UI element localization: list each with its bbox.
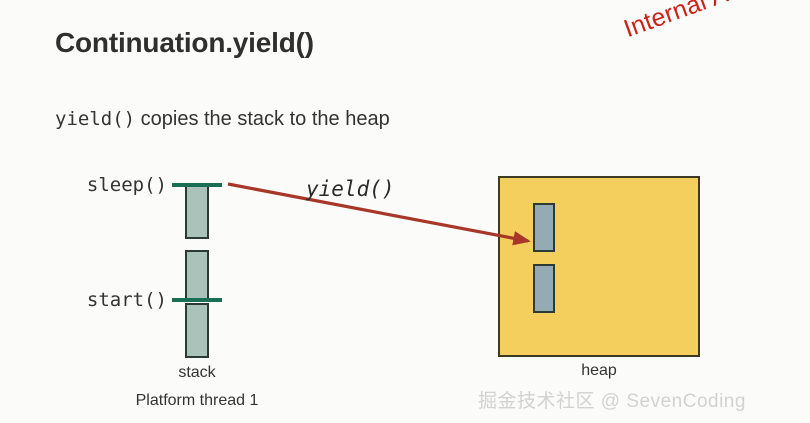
watermark: 掘金技术社区 @ SevenCoding (478, 386, 746, 413)
stack-separator-sleep (172, 183, 222, 187)
subtitle-text: copies the stack to the heap (135, 108, 390, 130)
page-title: Continuation.yield() (55, 27, 314, 59)
heap-object (533, 264, 555, 313)
internal-api-stamp: Internal API (620, 0, 755, 44)
stack-caption: stack (137, 364, 257, 382)
slide-canvas: Continuation.yield() Internal API yield(… (0, 0, 810, 423)
subtitle-code: yield() (55, 108, 135, 130)
stack-separator-start (172, 298, 222, 302)
heap-object (533, 203, 555, 252)
stack-frame-box (185, 184, 209, 239)
heap-region (498, 176, 700, 357)
stack-frame-label-start: start() (55, 289, 167, 311)
subtitle: yield() copies the stack to the heap (55, 108, 390, 131)
stack-frame-box (185, 250, 209, 300)
heap-caption: heap (539, 362, 659, 380)
stack-frame-box (185, 303, 209, 358)
stack-frame-label-sleep: sleep() (55, 174, 167, 196)
yield-arrow-label: yield() (306, 177, 395, 201)
platform-thread-caption: Platform thread 1 (107, 392, 287, 410)
